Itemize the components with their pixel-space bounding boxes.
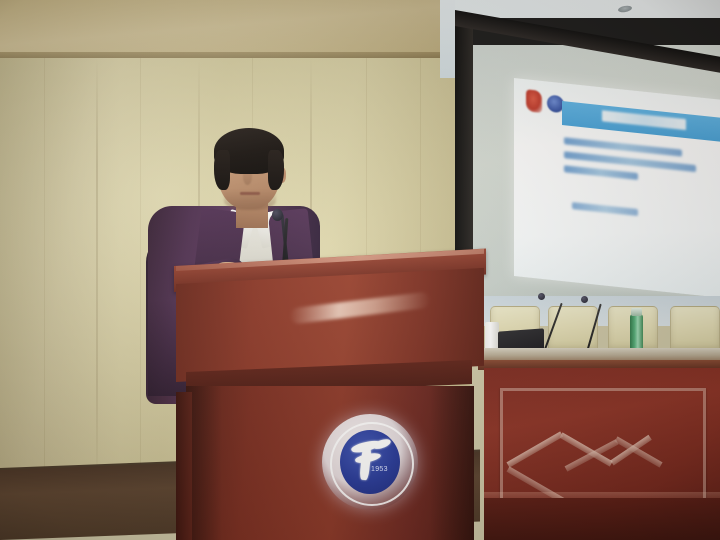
conference-hall-photo: 1953 (0, 0, 720, 540)
slide-body-line (572, 202, 638, 216)
podium-microphone-head (272, 209, 283, 221)
bottle-cap (631, 308, 642, 316)
emblem-wing-mark-icon (349, 438, 393, 484)
chair (670, 306, 720, 352)
chair (548, 306, 598, 352)
table-microphone-head (581, 296, 588, 303)
red-emblem-logo-icon (526, 89, 542, 113)
presenter-mouth (240, 192, 260, 195)
head-table-base (484, 498, 720, 540)
table-microphone-head (538, 293, 545, 300)
lectern-side-panel (176, 392, 192, 540)
presenter-hair-side-right (268, 150, 284, 190)
slide-body-line (564, 165, 638, 180)
presentation-slide (514, 78, 720, 298)
inlay-bar (507, 431, 564, 467)
zigzag-inlay-pattern (508, 400, 694, 486)
presenter-hair-side-left (214, 150, 230, 190)
emblem-year: 1953 (371, 466, 388, 473)
wing-stroke (372, 437, 392, 451)
lectern-shadow-right (430, 386, 474, 540)
